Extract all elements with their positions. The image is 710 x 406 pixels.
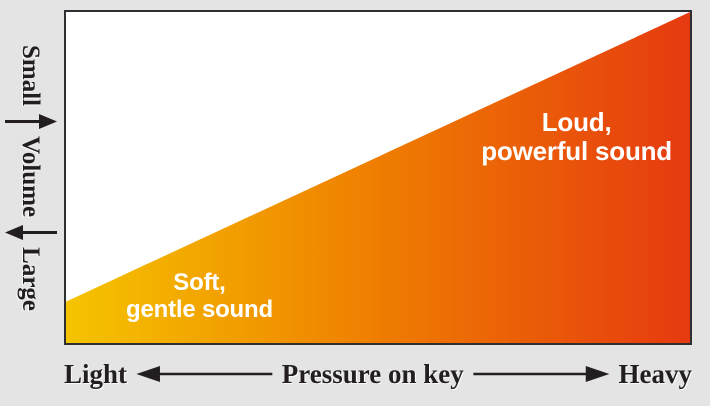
loud-annotation-line2: powerful sound (481, 137, 672, 166)
y-axis-low-label: Small (19, 44, 44, 105)
x-axis-measure-label: Pressure on key (282, 361, 464, 388)
arrow-left-icon (135, 365, 274, 383)
arrow-down-icon (3, 112, 59, 130)
x-axis: Light Pressure on key Heavy (64, 352, 692, 396)
y-axis-label-group: Small Volume Large (7, 10, 55, 345)
y-axis-measure-label: Volume (19, 136, 44, 217)
plot-area: Loud, powerful sound Soft, gentle sound (64, 10, 692, 345)
x-axis-low-label: Light (64, 361, 127, 388)
x-axis-high-label: Heavy (619, 361, 693, 388)
soft-annotation-line2: gentle sound (126, 297, 273, 324)
y-axis: Small Volume Large (0, 10, 62, 345)
diagram-canvas: Small Volume Large Loud, powerful so (0, 0, 710, 406)
soft-annotation: Soft, gentle sound (126, 270, 273, 324)
loud-annotation: Loud, powerful sound (481, 108, 672, 166)
y-axis-high-label: Large (19, 247, 44, 311)
loud-annotation-line1: Loud, (481, 108, 672, 137)
arrow-right-icon (472, 365, 611, 383)
arrow-up-icon (3, 223, 59, 241)
soft-annotation-line1: Soft, (126, 270, 273, 297)
